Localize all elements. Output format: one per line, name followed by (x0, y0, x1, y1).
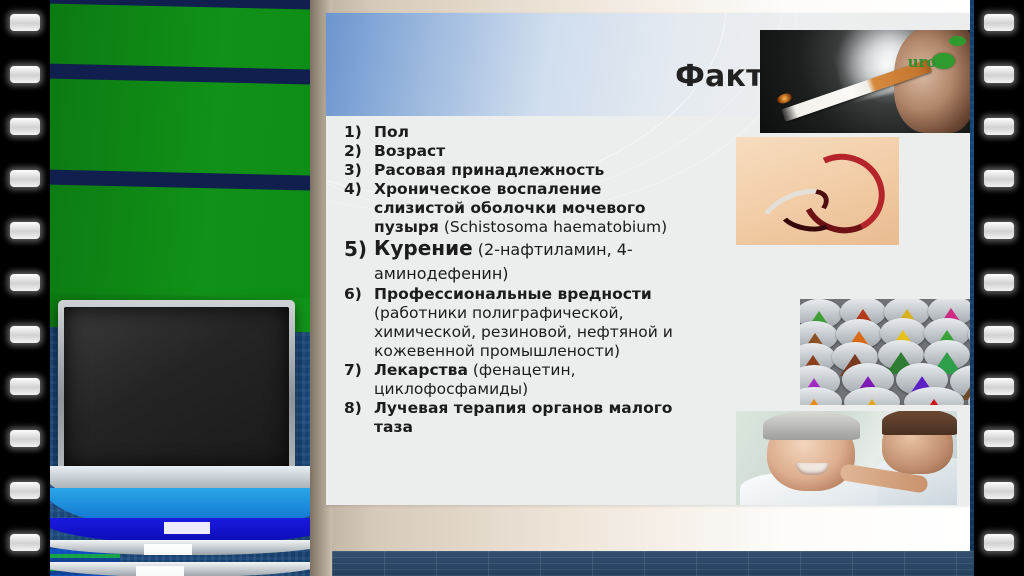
list-item-number: 8) (336, 399, 374, 418)
film-sprocket-hole-right-2 (984, 66, 1014, 83)
elderly-patient-with-doctor-photo (736, 411, 957, 505)
presentation-slide: Факторы риска 1) Пол 2) Возраст 3) Расов… (326, 13, 970, 505)
film-sprocket-hole-right-11 (984, 534, 1014, 551)
film-sprocket-hole-left-9 (10, 430, 40, 447)
list-item-number: 3) (336, 161, 374, 180)
film-sprocket-hole-left-3 (10, 118, 40, 135)
list-item: 6) Профессиональные вредности (работники… (336, 285, 686, 361)
film-sprocket-hole-left-10 (10, 482, 40, 499)
film-sprocket-hole-right-8 (984, 378, 1014, 395)
pigment-bowl (968, 320, 970, 350)
list-item: 3) Расовая принадлежность (336, 161, 686, 180)
desk-highlight-3 (136, 566, 184, 576)
list-item-text: Лучевая терапия органов малого таза (374, 399, 686, 437)
film-sprocket-hole-left-8 (10, 378, 40, 395)
list-item: 2) Возраст (336, 142, 686, 161)
monitor-screen (64, 307, 289, 468)
film-strip-right (974, 0, 1024, 576)
desk-highlight-1 (164, 522, 210, 534)
desk-highlight-2 (144, 544, 192, 555)
list-item-text: Возраст (374, 142, 445, 161)
film-sprocket-hole-right-7 (984, 326, 1014, 343)
list-item: 8) Лучевая терапия органов малого таза (336, 399, 686, 437)
list-item-number: 7) (336, 361, 374, 380)
risk-factors-list: 1) Пол 2) Возраст 3) Расовая принадлежно… (336, 123, 686, 437)
list-item-number: 1) (336, 123, 374, 142)
list-item-text: Пол (374, 123, 409, 142)
flat-screen-monitor (58, 300, 295, 480)
slide-screenshot: Факторы риска 1) Пол 2) Возраст 3) Расов… (0, 0, 1024, 576)
film-sprocket-hole-right-6 (984, 274, 1014, 291)
film-sprocket-hole-right-10 (984, 482, 1014, 499)
film-sprocket-hole-right-4 (984, 170, 1014, 187)
film-sprocket-hole-left-4 (10, 170, 40, 187)
list-item-text: Лекарства (фенацетин, циклофосфамиды) (374, 361, 686, 399)
film-sprocket-hole-left-11 (10, 534, 40, 551)
film-sprocket-hole-left-6 (10, 274, 40, 291)
film-sprocket-hole-right-1 (984, 14, 1014, 31)
film-sprocket-hole-right-9 (984, 430, 1014, 447)
pigment-mound (800, 399, 829, 405)
film-sprocket-hole-left-5 (10, 222, 40, 239)
doctor-hair (882, 411, 957, 435)
list-item-number: 5) (336, 237, 374, 261)
list-item: 4) Хроническое воспаление слизистой обол… (336, 180, 686, 237)
list-item-text: Расовая принадлежность (374, 161, 604, 180)
film-sprocket-hole-right-3 (984, 118, 1014, 135)
burning-cigarette-photo: uro (760, 30, 970, 133)
film-sprocket-hole-right-5 (984, 222, 1014, 239)
list-item-text: Профессиональные вредности (работники по… (374, 285, 686, 361)
desk-slat-2 (50, 562, 328, 576)
list-item: 1) Пол (336, 123, 686, 142)
uro-watermark: uro (908, 53, 937, 71)
bottom-video-wall-band (332, 551, 1024, 576)
list-item-text: Курение (2-нафтиламин, 4-аминодефенин) (374, 237, 686, 285)
list-item-number: 6) (336, 285, 374, 304)
film-sprocket-hole-left-7 (10, 326, 40, 343)
list-item-number: 4) (336, 180, 374, 199)
pigment-mound (919, 399, 949, 405)
schistosoma-worm-photo (736, 137, 899, 245)
list-item: 5) Курение (2-нафтиламин, 4-аминодефенин… (336, 237, 686, 285)
list-item-number: 2) (336, 142, 374, 161)
film-sprocket-hole-left-1 (10, 14, 40, 31)
pigment-mound (857, 399, 887, 405)
film-sprocket-hole-left-2 (10, 66, 40, 83)
colored-pigment-powders-photo (800, 299, 970, 405)
list-item-text: Хроническое воспаление слизистой оболочк… (374, 180, 686, 237)
film-strip-left (0, 0, 50, 576)
patient-hair (763, 411, 860, 440)
list-item: 7) Лекарства (фенацетин, циклофосфамиды) (336, 361, 686, 399)
